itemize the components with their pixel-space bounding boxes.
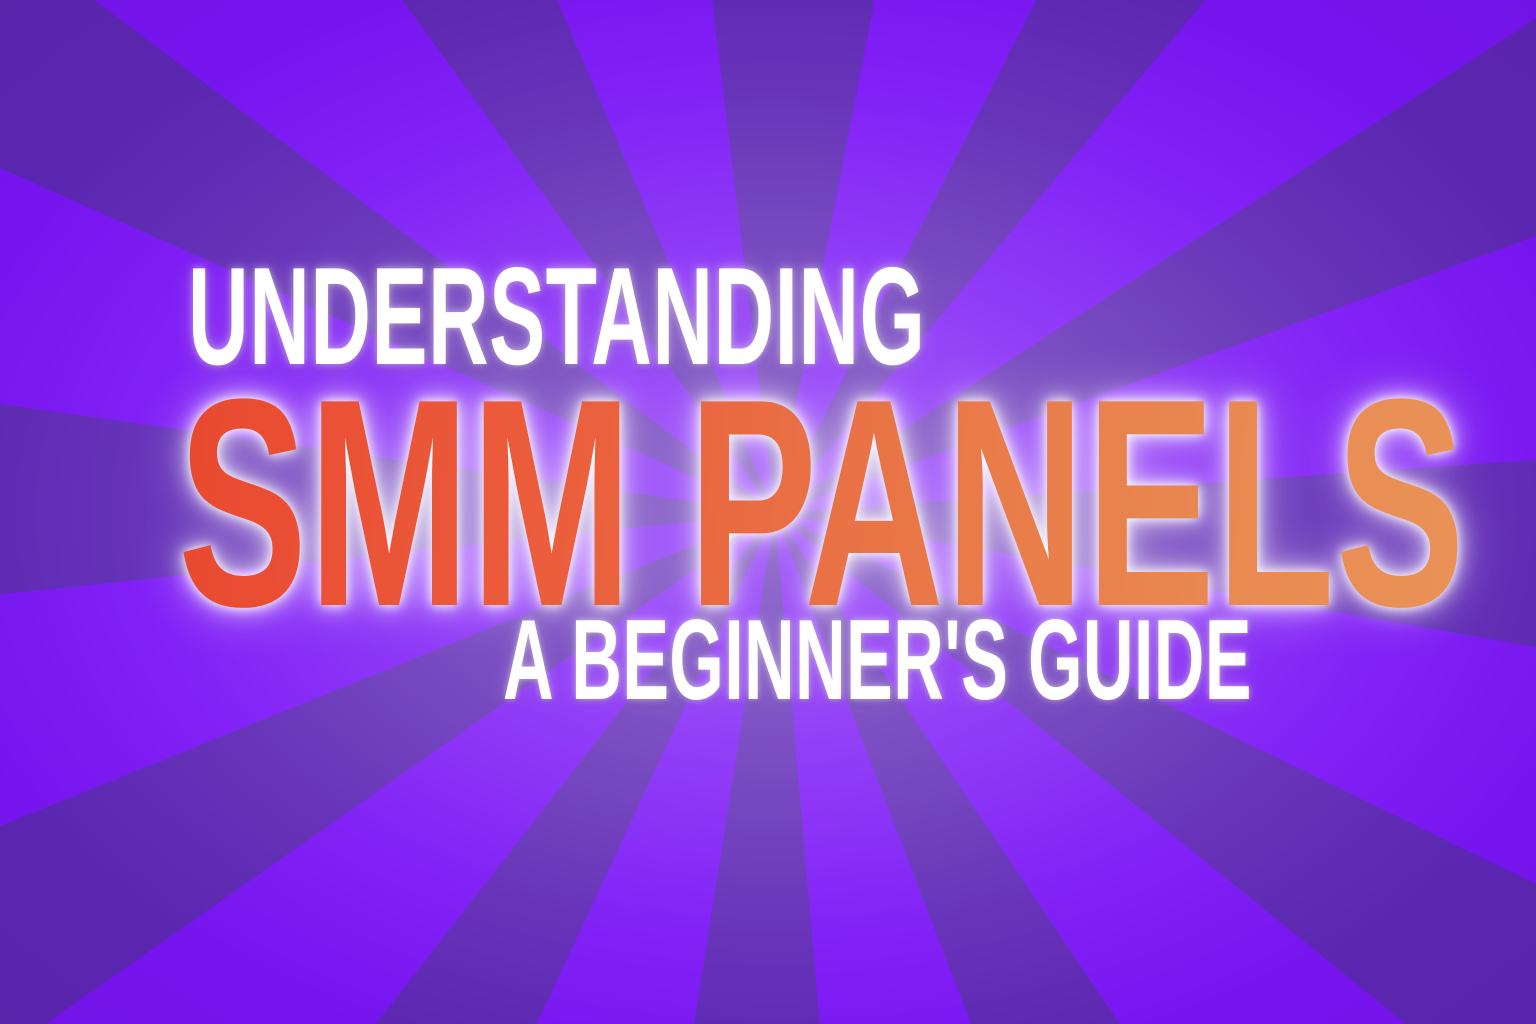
headline-block: UNDERSTANDING SMM PANELS A BEGINNER'S GU…: [0, 0, 1536, 1024]
poster-canvas: UNDERSTANDING SMM PANELS A BEGINNER'S GU…: [0, 0, 1536, 1024]
headline-line-3: A BEGINNER'S GUIDE: [503, 604, 1252, 718]
